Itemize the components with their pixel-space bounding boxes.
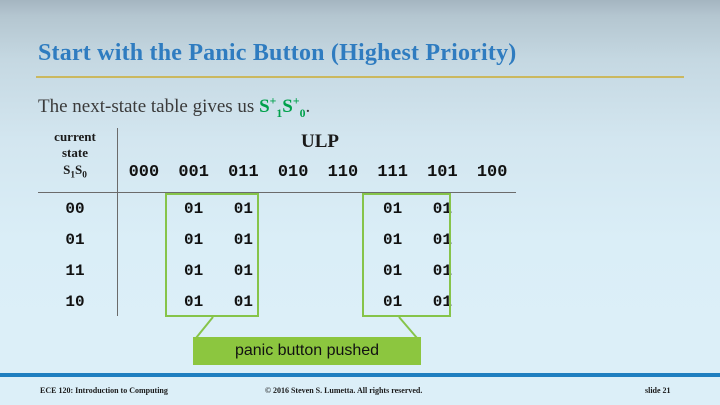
table-cell [318, 293, 368, 311]
slide-canvas: Start with the Panic Button (Highest Pri… [0, 0, 720, 405]
ulp-column-header: 000 [119, 163, 169, 182]
current-state-header: current state S1S0 [38, 129, 112, 178]
highlight-box-left [165, 193, 259, 317]
current-state-header-line3: S1S0 [38, 162, 112, 178]
table-cell [119, 231, 169, 249]
ulp-column-header: 001 [169, 163, 219, 182]
table-cell [467, 262, 517, 280]
ulp-group-header: ULP [125, 131, 515, 153]
row-state-label: 10 [38, 293, 112, 311]
state-label-s0-sub: 0 [82, 170, 87, 180]
row-state-label: 11 [38, 262, 112, 280]
table-cell [119, 262, 169, 280]
table-cell [318, 200, 368, 218]
table-cell [119, 293, 169, 311]
table-cell [467, 293, 517, 311]
table-cell [467, 200, 517, 218]
current-state-header-line1: current [38, 129, 112, 145]
callout-label: panic button pushed [235, 342, 379, 360]
footer-course-name: ECE 120: Introduction to Computing [40, 386, 168, 395]
table-cell [268, 262, 318, 280]
ulp-column-header: 011 [219, 163, 269, 182]
table-cell [268, 231, 318, 249]
ulp-column-header: 010 [268, 163, 318, 182]
ulp-column-header: 111 [368, 163, 418, 182]
ulp-column-header: 101 [418, 163, 468, 182]
ulp-column-header: 110 [318, 163, 368, 182]
table-cell [268, 200, 318, 218]
row-state-label: 00 [38, 200, 112, 218]
table-cell [268, 293, 318, 311]
ulp-column-header: 100 [467, 163, 517, 182]
ulp-column-headers: 000 001 011 010 110 111 101 100 [119, 163, 517, 182]
callout-panic-button-pushed: panic button pushed [193, 337, 421, 365]
current-state-header-line2: state [38, 145, 112, 161]
table-cell [318, 262, 368, 280]
table-cell [467, 231, 517, 249]
highlight-box-right [362, 193, 451, 317]
footer-slide-number: slide 21 [645, 386, 671, 395]
footer-copyright: © 2016 Steven S. Lumetta. All rights res… [265, 386, 422, 395]
table-cell [119, 200, 169, 218]
table-cell [318, 231, 368, 249]
row-state-label: 01 [38, 231, 112, 249]
